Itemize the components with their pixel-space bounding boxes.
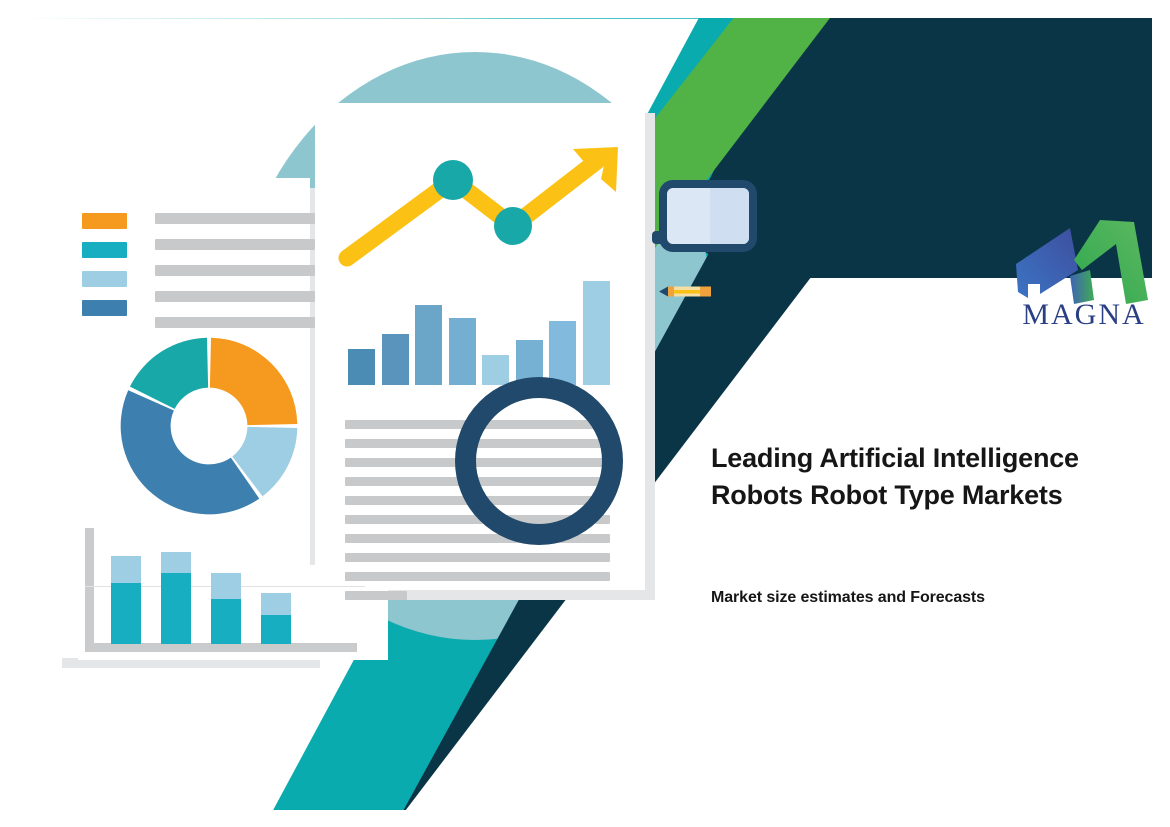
stacked-bar (161, 552, 191, 644)
legend-swatch (82, 213, 127, 229)
page-title: Leading Artificial Intelligence Robots R… (711, 440, 1111, 515)
text-line (155, 317, 315, 328)
bar (348, 349, 375, 385)
legend-swatch (82, 300, 127, 316)
chart-axis-y (85, 528, 94, 652)
page-subtitle: Market size estimates and Forecasts (711, 589, 1111, 607)
bar-segment-lower (161, 573, 191, 644)
bar (549, 321, 576, 385)
text-line (345, 591, 407, 600)
stacked-bar-chart (85, 528, 365, 660)
bar-segment-lower (111, 583, 141, 644)
tablet-device-icon (659, 180, 757, 252)
bar (583, 281, 610, 385)
bar-segment-lower (261, 615, 291, 644)
legend-swatch (82, 242, 127, 258)
bar-segment-lower (211, 599, 241, 644)
website-url[interactable]: www.MagnaMRC.com (148, 721, 315, 739)
bar-segment-upper (161, 552, 191, 574)
pencil-icon (659, 285, 711, 298)
bar-segment-upper (211, 573, 241, 599)
text-line (155, 213, 315, 224)
cover-page: Leading Artificial Intelligence Robots R… (0, 0, 1170, 827)
text-line (155, 239, 315, 250)
tablet-screen-sheen (710, 188, 749, 244)
bar (382, 334, 409, 385)
page-title-line-2: Robots Robot Type Markets (711, 477, 1111, 514)
donut-chart (113, 330, 305, 522)
text-line (155, 265, 315, 276)
legend-swatch (82, 271, 127, 287)
stacked-bar (211, 573, 241, 644)
text-line (345, 572, 610, 581)
bar-segment-upper (261, 593, 291, 615)
chart-axis-x (85, 643, 357, 652)
bar (415, 305, 442, 385)
donut-slice (210, 338, 297, 425)
page-title-line-1: Leading Artificial Intelligence (711, 440, 1111, 477)
bar-chart (348, 275, 618, 385)
text-line (345, 553, 610, 562)
stacked-bar (111, 556, 141, 644)
bar (482, 355, 509, 385)
stacked-bar (261, 593, 291, 644)
bar-segment-upper (111, 556, 141, 583)
bar (449, 318, 476, 385)
text-line (155, 291, 315, 302)
trend-line-arrow-icon (335, 135, 630, 270)
magnifying-glass-icon (455, 377, 623, 545)
brand-name: MAGNA (1008, 298, 1160, 332)
